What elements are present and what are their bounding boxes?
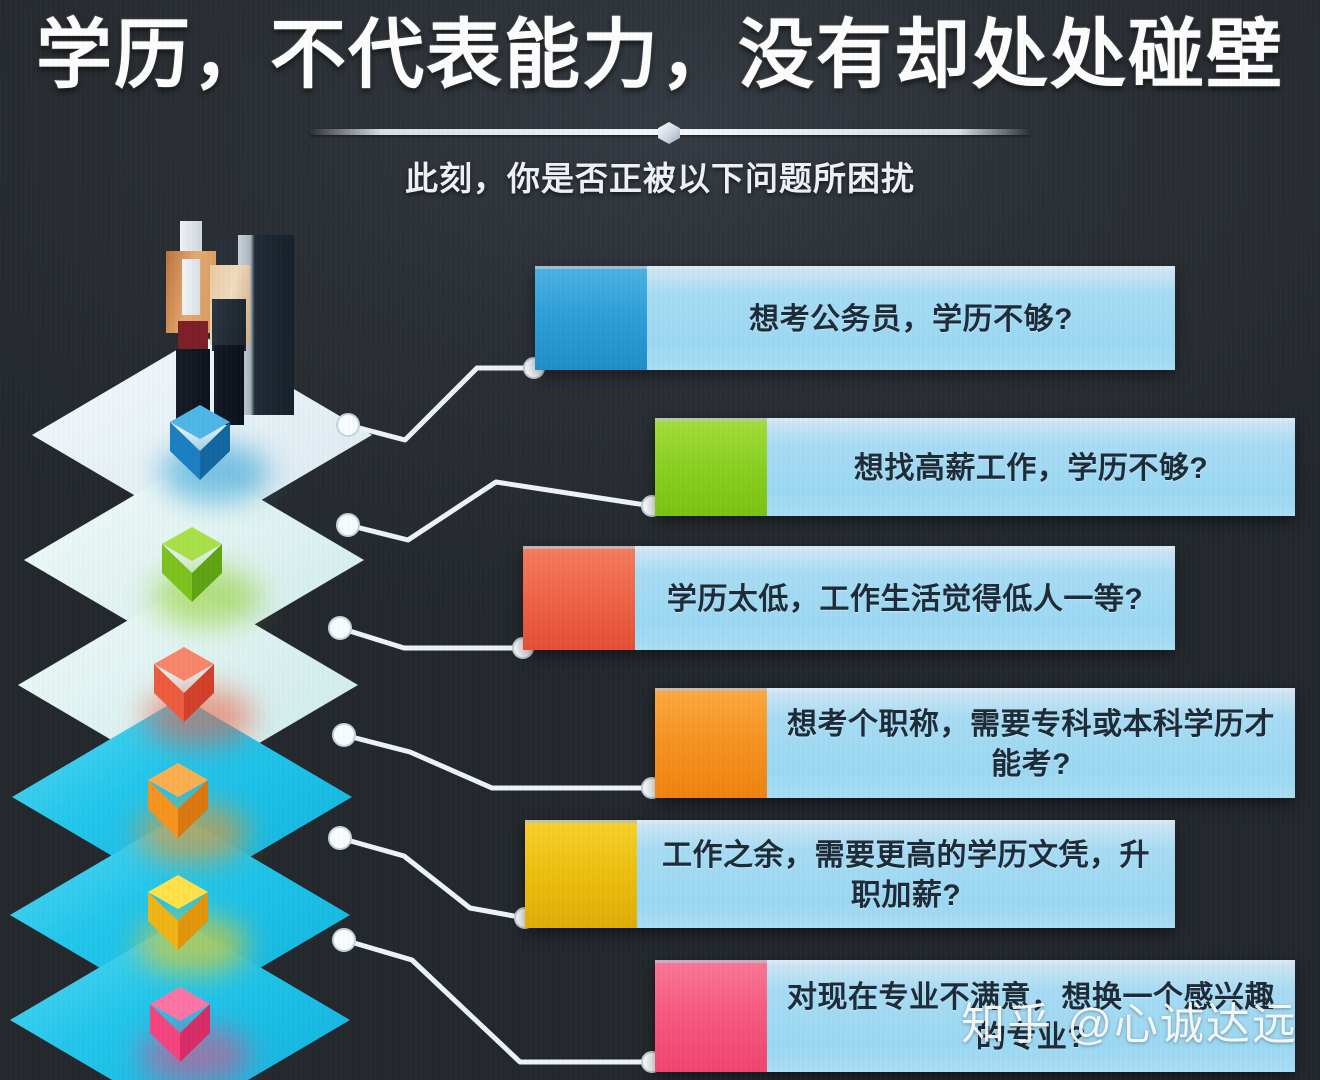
card-text: 工作之余，需要更高的学历文凭，升 职加薪? (662, 836, 1150, 915)
isometric-illustration (10, 215, 430, 1075)
cube-orange (148, 763, 208, 847)
card-text: 学历太低，工作生活觉得低人一等? (667, 580, 1143, 620)
card-body: 想找高薪工作，学历不够? (767, 418, 1295, 516)
card-accent-bar (655, 418, 767, 516)
cube-yellow (148, 875, 208, 959)
cube-pink (150, 987, 210, 1071)
card-accent-bar (655, 688, 767, 798)
problem-card[interactable]: 想找高薪工作，学历不够? (655, 418, 1295, 516)
card-text: 想找高薪工作，学历不够? (854, 449, 1208, 489)
problem-card[interactable]: 想考个职称，需要专科或本科学历才 能考? (655, 688, 1295, 798)
page-title: 学历，不代表能力，没有却处处碰壁 (0, 8, 1320, 103)
card-text: 想考公务员，学历不够? (749, 300, 1073, 340)
card-accent-bar (535, 266, 647, 370)
card-body: 学历太低，工作生活觉得低人一等? (635, 546, 1175, 650)
page-subtitle: 此刻，你是否正被以下问题所困扰 (0, 152, 1320, 200)
card-body: 工作之余，需要更高的学历文凭，升 职加薪? (637, 820, 1175, 928)
card-accent-bar (523, 546, 635, 650)
cube-blue (170, 405, 230, 489)
problem-card[interactable]: 学历太低，工作生活觉得低人一等? (523, 546, 1175, 650)
card-text: 想考个职称，需要专科或本科学历才 能考? (787, 705, 1275, 784)
watermark: 知乎 @心诚达远 (961, 988, 1298, 1052)
problem-card[interactable]: 工作之余，需要更高的学历文凭，升 职加薪? (525, 820, 1175, 928)
divider (310, 120, 1030, 144)
card-body: 想考个职称，需要专科或本科学历才 能考? (767, 688, 1295, 798)
problem-card[interactable]: 想考公务员，学历不够? (535, 266, 1175, 370)
cube-green (162, 527, 222, 611)
hexagon-gem-icon (658, 122, 680, 144)
card-body: 想考公务员，学历不够? (647, 266, 1175, 370)
cube-red (154, 647, 214, 731)
person-standing-right (206, 237, 268, 423)
card-accent-bar (525, 820, 637, 928)
card-accent-bar (655, 960, 767, 1072)
infographic-poster: 学历，不代表能力，没有却处处碰壁 此刻，你是否正被以下问题所困扰 (0, 0, 1320, 1080)
